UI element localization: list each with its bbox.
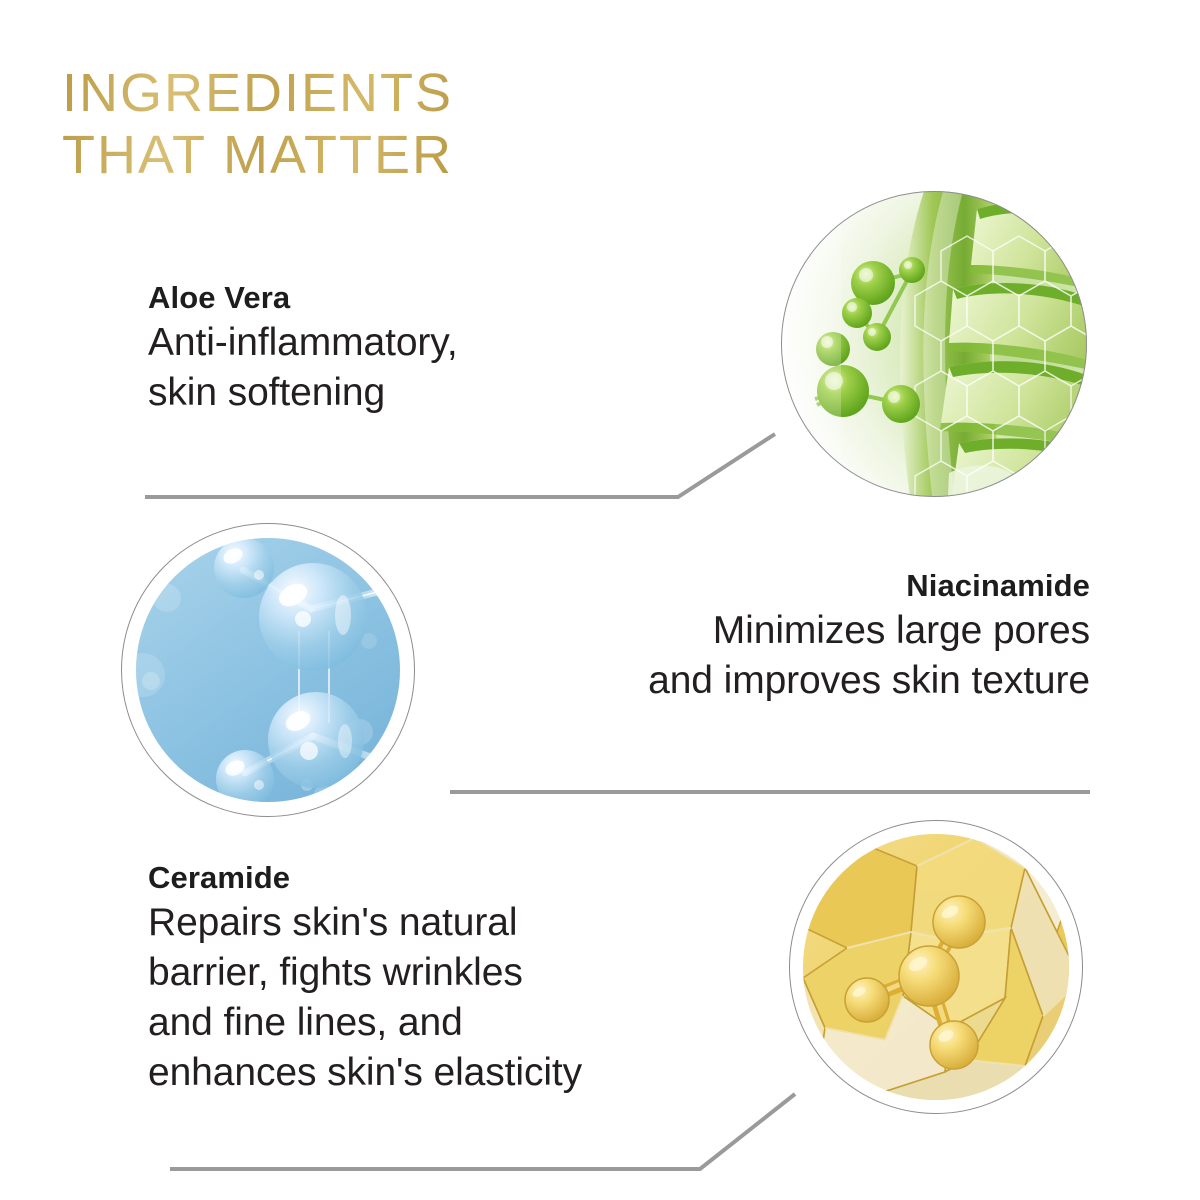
page-title: INGREDIENTS THAT MATTER: [62, 62, 453, 186]
ingredient-description-niacinamide: Minimizes large pores and improves skin …: [648, 606, 1090, 706]
ingredient-name-aloe-vera: Aloe Vera: [148, 278, 458, 318]
ingredient-description-aloe-vera: Anti-inflammatory, skin softening: [148, 318, 458, 418]
ingredients-infographic: INGREDIENTS THAT MATTER Aloe Vera Anti-i…: [0, 0, 1200, 1200]
ingredient-block-niacinamide: Niacinamide Minimizes large pores and im…: [648, 566, 1090, 706]
aloe-vera-photo-ring: [781, 191, 1087, 497]
connector-aloe: [145, 434, 775, 497]
ingredient-description-ceramide: Repairs skin's natural barrier, fights w…: [148, 898, 582, 1098]
connector-ceramide: [170, 1094, 795, 1169]
ingredient-name-niacinamide: Niacinamide: [648, 566, 1090, 606]
ingredient-block-aloe-vera: Aloe Vera Anti-inflammatory, skin soften…: [148, 278, 458, 418]
ingredient-block-ceramide: Ceramide Repairs skin's natural barrier,…: [148, 858, 582, 1098]
ceramide-photo-ring: [789, 820, 1083, 1114]
ingredient-name-ceramide: Ceramide: [148, 858, 582, 898]
niacinamide-photo-ring: [121, 523, 415, 817]
